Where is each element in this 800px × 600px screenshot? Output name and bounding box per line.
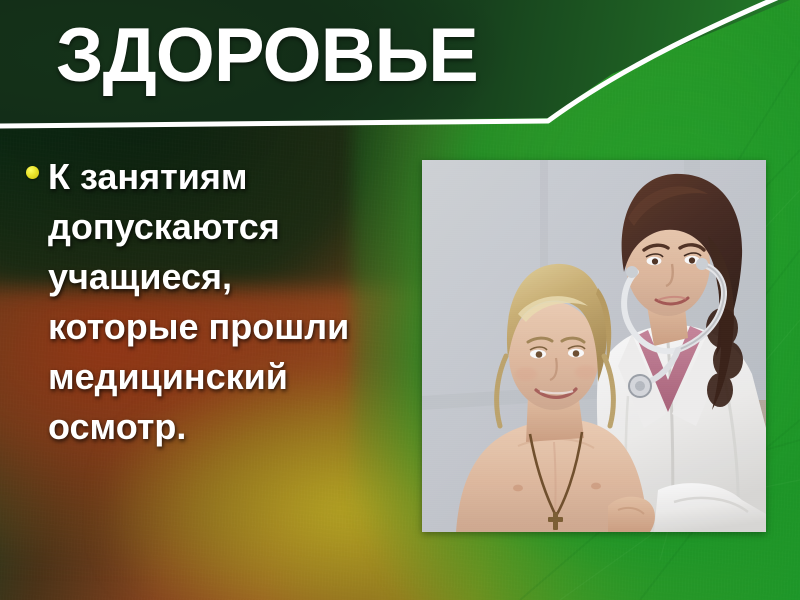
page-title: ЗДОРОВЬЕ xyxy=(56,8,478,104)
bullet-dot-icon xyxy=(26,166,39,179)
title-banner: ЗДОРОВЬЕ xyxy=(0,0,800,132)
bullet-item-text: К занятиям допускаются учащиеся, которые… xyxy=(48,152,386,452)
content-body: К занятиям допускаются учащиеся, которые… xyxy=(26,152,386,452)
list-item: К занятиям допускаются учащиеся, которые… xyxy=(26,152,386,452)
presentation-slide: ЗДОРОВЬЕ К занятиям допускаются учащиеся… xyxy=(0,0,800,600)
doctor-examining-child-photo xyxy=(422,160,766,532)
